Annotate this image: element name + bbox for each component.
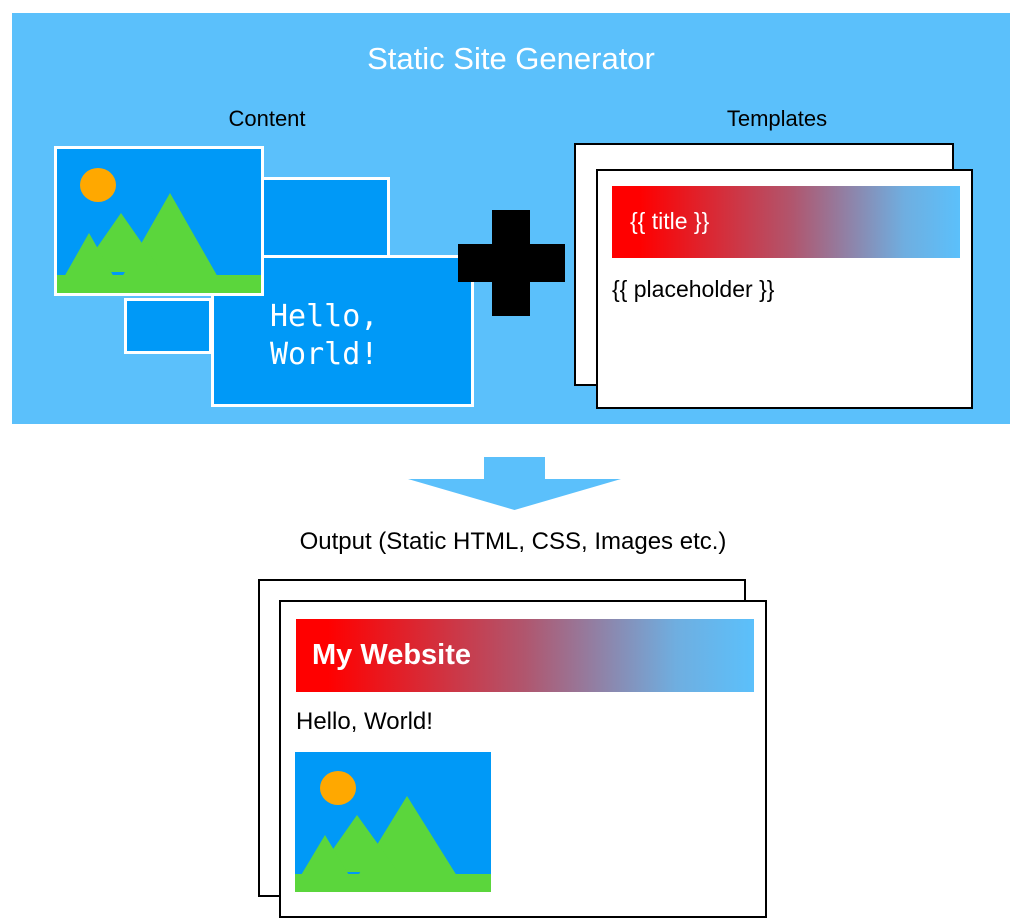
output-site-title: My Website [312, 639, 471, 672]
templates-column-label: Templates [677, 106, 877, 132]
diagram-canvas: Static Site Generator Content Templates … [0, 0, 1026, 918]
output-header-bar: My Website [296, 619, 754, 692]
down-arrow-icon [408, 457, 621, 510]
page-title: Static Site Generator [12, 42, 1010, 76]
content-text-card-label: Hello, World! [270, 298, 378, 373]
output-paragraph: Hello, World! [296, 708, 433, 736]
output-label: Output (Static HTML, CSS, Images etc.) [0, 528, 1026, 556]
sun-icon [320, 771, 356, 805]
output-card-front[interactable]: My Website Hello, World! [279, 600, 767, 918]
plus-icon [458, 210, 565, 316]
content-blank-card-lower[interactable] [124, 298, 212, 354]
content-column-label: Content [167, 106, 367, 132]
mountain-icon [295, 752, 491, 892]
template-body-placeholder: {{ placeholder }} [612, 276, 774, 303]
template-title-placeholder: {{ title }} [630, 208, 709, 235]
sun-icon [80, 168, 116, 202]
content-image-card[interactable] [54, 146, 264, 296]
output-image [295, 752, 491, 892]
template-header-bar: {{ title }} [612, 186, 960, 258]
mountain-icon [57, 149, 261, 293]
template-card-front[interactable]: {{ title }} {{ placeholder }} [596, 169, 973, 409]
